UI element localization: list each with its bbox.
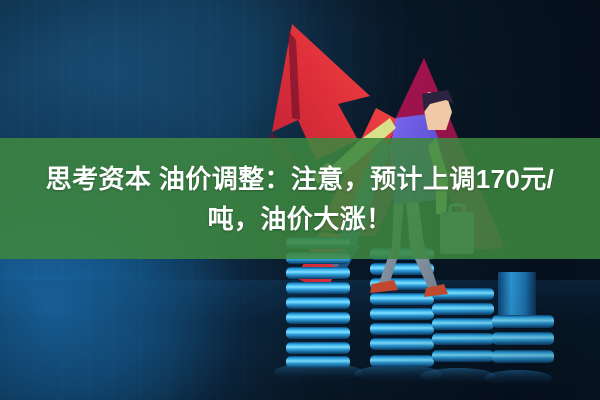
headline-text: 思考资本 油价调整：注意，预计上调170元/吨，油价大涨！ bbox=[20, 159, 580, 239]
thumbnail-canvas: 思考资本 油价调整：注意，预计上调170元/吨，油价大涨！ bbox=[0, 0, 600, 400]
headline-band: 思考资本 油价调整：注意，预计上调170元/吨，油价大涨！ bbox=[0, 138, 600, 259]
